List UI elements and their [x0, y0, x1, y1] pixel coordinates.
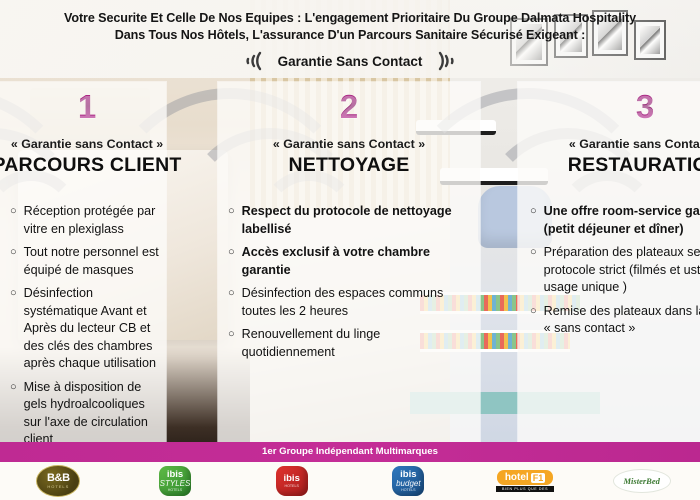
group-tagline-strip: 1er Groupe Indépendant Multimarques [0, 442, 700, 462]
wifi-waves-left-icon [234, 50, 264, 72]
bullet-text: Respect du protocole de nettoyage labell… [242, 203, 472, 238]
brand-logo-bar: B&B HOTELS ibis STYLES HOTELS ibis HOTEL… [0, 462, 700, 500]
panel-3-bullet-list: ○Une offre room-service garantie (petit … [518, 203, 700, 338]
panel-subtitle-3: « Garantie sans Contact » [518, 137, 700, 151]
panel-title-2: NETTOYAGE [218, 154, 480, 177]
bullet-text: Renouvellement du linge quotidiennement [242, 326, 472, 361]
guarantee-label: Garantie Sans Contact [278, 54, 423, 69]
logo-slot-ibis-budget: ibis budget HOTELS [350, 466, 467, 496]
list-item: ○Préparation des plateaux selon protocol… [530, 244, 700, 297]
bullet-marker-icon: ○ [530, 244, 537, 261]
bb-hotels-logo-text: B&B [47, 473, 70, 484]
bullet-marker-icon: ○ [228, 326, 235, 343]
bullet-text: Mise à disposition de gels hydroalcooliq… [24, 379, 160, 449]
list-item: ○Accès exclusif à votre chambre garantie [228, 244, 472, 279]
list-item: ○Désinfection systématique Avant et Aprè… [10, 285, 160, 373]
panel-parcours-client: 1 « Garantie sans Contact » PARCOURS CLI… [0, 82, 166, 442]
ibis-styles-logo-tag: HOTELS [168, 488, 182, 492]
logo-slot-ibis-styles: ibis STYLES HOTELS [117, 466, 234, 496]
list-item: ○Mise à disposition de gels hydroalcooli… [10, 379, 160, 449]
panel-restauration: 3 « Garantie sans Contact » RESTAURATION… [518, 82, 700, 442]
misterbed-logo: MisterBed [613, 469, 671, 493]
header-line-1: Votre Securite Et Celle De Nos Equipes :… [0, 11, 700, 26]
logo-slot-ibis: ibis HOTELS [233, 466, 350, 496]
bullet-text: Tout notre personnel est équipé de masqu… [24, 244, 160, 279]
bb-hotels-logo-sub: HOTELS [47, 484, 69, 489]
hotelf1-logo-badge: F1 [531, 473, 546, 483]
panel-1-bullet-list: ○Réception protégée par vitre en plexigl… [0, 203, 166, 449]
ibis-logo-tag: HOTELS [284, 484, 298, 488]
header-line-2: Dans Tous Nos Hôtels, L'assurance D'un P… [0, 28, 700, 43]
bb-hotels-logo: B&B HOTELS [36, 465, 80, 497]
hotelf1-logo-text: hotel [505, 472, 529, 483]
panel-title-3: RESTAURATION [518, 154, 700, 177]
ibis-logo: ibis HOTELS [276, 466, 308, 496]
panel-nettoyage: 2 « Garantie sans Contact » NETTOYAGE ○R… [218, 82, 480, 442]
bullet-text: Accès exclusif à votre chambre garantie [242, 244, 472, 279]
panel-title-1: PARCOURS CLIENT [0, 154, 206, 177]
header-band: Votre Securite Et Celle De Nos Equipes :… [0, 0, 700, 78]
hotelf1-logo-top: hotel F1 [497, 470, 553, 485]
bullet-marker-icon: ○ [228, 244, 235, 261]
ibis-styles-logo-text: ibis [167, 470, 183, 480]
logo-slot-misterbed: MisterBed [583, 469, 700, 493]
slide-root: Votre Securite Et Celle De Nos Equipes :… [0, 0, 700, 500]
bullet-marker-icon: ○ [10, 203, 17, 220]
list-item: ○Tout notre personnel est équipé de masq… [10, 244, 160, 279]
bullet-text: Désinfection des espaces communs toutes … [242, 285, 472, 320]
hotelf1-logo: hotel F1 BIEN PLUS QUE DES [496, 470, 554, 492]
logo-slot-hotelf1: hotel F1 BIEN PLUS QUE DES [467, 470, 584, 492]
ibis-styles-logo-sub: STYLES [160, 479, 191, 488]
ibis-styles-logo: ibis STYLES HOTELS [159, 466, 191, 496]
hotelf1-logo-tagline: BIEN PLUS QUE DES [496, 486, 554, 492]
panel-subtitle-1: « Garantie sans Contact » [0, 137, 206, 151]
bullet-text: Réception protégée par vitre en plexigla… [24, 203, 160, 238]
wifi-waves-right-icon [436, 50, 466, 72]
logo-slot-bb: B&B HOTELS [0, 465, 117, 497]
bullet-marker-icon: ○ [10, 285, 17, 302]
group-tagline-text: 1er Groupe Indépendant Multimarques [0, 442, 700, 462]
bullet-text: Préparation des plateaux selon protocole… [544, 244, 700, 297]
list-item: ○Une offre room-service garantie (petit … [530, 203, 700, 238]
bullet-marker-icon: ○ [228, 203, 235, 220]
bullet-marker-icon: ○ [10, 244, 17, 261]
list-item: ○Respect du protocole de nettoyage label… [228, 203, 472, 238]
panel-2-bullet-list: ○Respect du protocole de nettoyage label… [218, 203, 480, 361]
bullet-text: Remise des plateaux dans la chambre « sa… [544, 303, 700, 338]
bullet-text: Désinfection systématique Avant et Après… [24, 285, 160, 373]
panel-subtitle-2: « Garantie sans Contact » [218, 137, 480, 151]
panel-number-1: 1 [0, 90, 206, 123]
list-item: ○Réception protégée par vitre en plexigl… [10, 203, 160, 238]
bullet-text: Une offre room-service garantie (petit d… [544, 203, 700, 238]
guarantee-row: Garantie Sans Contact [0, 50, 700, 72]
ibis-logo-text: ibis [283, 474, 299, 484]
panel-number-2: 2 [218, 90, 480, 123]
list-item: ○Remise des plateaux dans la chambre « s… [530, 303, 700, 338]
bullet-marker-icon: ○ [530, 203, 537, 220]
bullet-marker-icon: ○ [530, 303, 537, 320]
panel-number-3: 3 [518, 90, 700, 123]
ibis-budget-logo: ibis budget HOTELS [392, 466, 424, 496]
bullet-marker-icon: ○ [10, 379, 17, 396]
ibis-budget-logo-text: ibis [400, 470, 416, 480]
misterbed-logo-text: MisterBed [624, 476, 660, 486]
ibis-budget-logo-tag: HOTELS [401, 488, 415, 492]
bullet-marker-icon: ○ [228, 285, 235, 302]
list-item: ○Renouvellement du linge quotidiennement [228, 326, 472, 361]
list-item: ○Désinfection des espaces communs toutes… [228, 285, 472, 320]
ibis-budget-logo-sub: budget [396, 479, 420, 488]
